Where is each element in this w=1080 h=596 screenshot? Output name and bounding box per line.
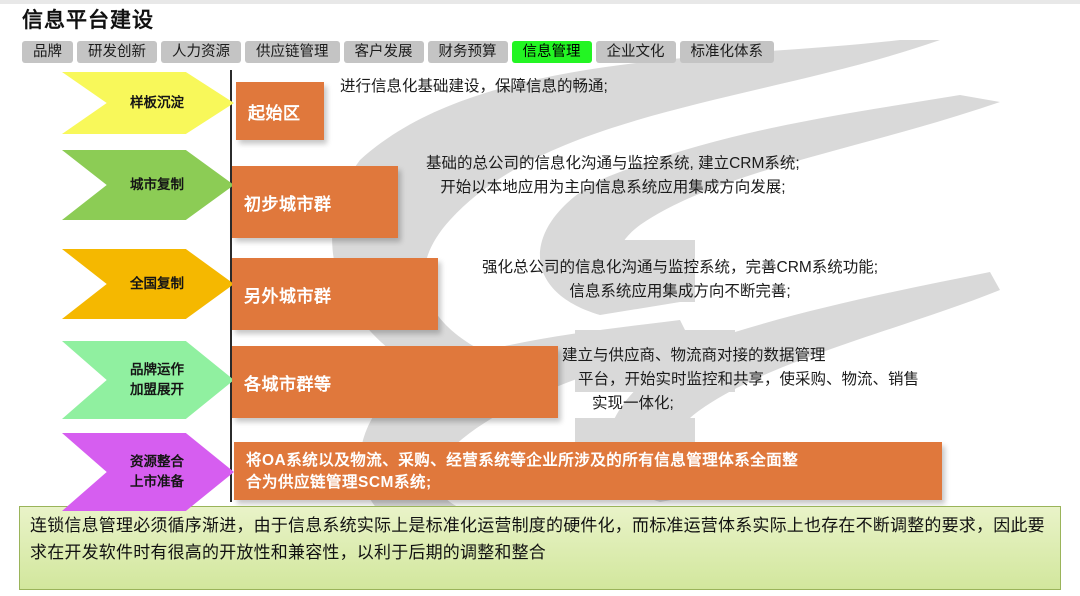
tab-information-management[interactable]: 信息管理	[512, 41, 592, 63]
stage-description-2-line-1: 基础的总公司的信息化沟通与监控系统, 建立CRM系统;	[426, 152, 800, 176]
stage-chevron-1-label: 样板沉淀	[130, 93, 184, 113]
stage-chevron-2: 城市复制	[62, 150, 234, 220]
tab-supply-chain-management[interactable]: 供应链管理	[245, 41, 340, 63]
tab-customer-development[interactable]: 客户发展	[344, 41, 424, 63]
stage-chevron-5: 资源整合 上市准备	[62, 433, 234, 511]
tab-human-resources[interactable]: 人力资源	[161, 41, 241, 63]
stage-box-2-label: 初步城市群	[244, 190, 332, 215]
stage-description-4-line-2: 平台，开始实时监控和共享，使采购、物流、销售	[562, 368, 919, 392]
stage-chevron-2-label: 城市复制	[130, 175, 184, 195]
tab-brand[interactable]: 品牌	[22, 41, 73, 63]
stage-description-4: 建立与供应商、物流商对接的数据管理 平台，开始实时监控和共享，使采购、物流、销售…	[562, 344, 919, 416]
stage-chevron-4-label-line-1: 品牌运作	[130, 360, 184, 380]
category-tab-bar: 品牌 研发创新 人力资源 供应链管理 客户发展 财务预算 信息管理 企业文化 标…	[22, 41, 774, 63]
stage-box-1: 起始区	[236, 82, 324, 140]
stage-description-3-line-1: 强化总公司的信息化沟通与监控系统，完善CRM系统功能;	[482, 256, 878, 280]
stage-box-2: 初步城市群	[232, 166, 398, 238]
stage-chevron-4: 品牌运作 加盟展开	[62, 341, 234, 419]
stage-chevron-1: 样板沉淀	[62, 72, 234, 134]
stage-chevron-5-label-line-1: 资源整合	[130, 452, 184, 472]
stage-box-4-label: 各城市群等	[244, 370, 332, 395]
stage-box-5-label-line-2: 合为供应链管理SCM系统;	[246, 472, 798, 494]
stage-box-4: 各城市群等	[232, 346, 558, 418]
tab-corporate-culture[interactable]: 企业文化	[596, 41, 676, 63]
stage-chevron-4-label-line-2: 加盟展开	[130, 380, 184, 400]
stage-description-4-line-1: 建立与供应商、物流商对接的数据管理	[562, 344, 919, 368]
stage-description-3-line-2: 信息系统应用集成方向不断完善;	[482, 280, 878, 304]
page-title: 信息平台建设	[22, 4, 154, 34]
stage-box-5-label-line-1: 将OA系统以及物流、采购、经营系统等企业所涉及的所有信息管理体系全面整	[246, 450, 798, 472]
stage-box-3: 另外城市群	[232, 258, 438, 330]
stage-description-4-line-3: 实现一体化;	[562, 392, 919, 416]
stage-box-5: 将OA系统以及物流、采购、经营系统等企业所涉及的所有信息管理体系全面整 合为供应…	[234, 442, 942, 500]
tab-standardization-system[interactable]: 标准化体系	[680, 41, 775, 63]
top-strip	[0, 0, 1080, 4]
stage-chevron-3: 全国复制	[62, 249, 234, 319]
stage-box-3-label: 另外城市群	[244, 282, 332, 307]
stage-description-1-line-1: 进行信息化基础建设，保障信息的畅通;	[340, 75, 608, 99]
stage-chevron-3-label: 全国复制	[130, 274, 184, 294]
stage-box-1-label: 起始区	[248, 99, 301, 124]
stage-description-3: 强化总公司的信息化沟通与监控系统，完善CRM系统功能; 信息系统应用集成方向不断…	[482, 256, 878, 304]
stage-description-1: 进行信息化基础建设，保障信息的畅通;	[340, 75, 608, 99]
stage-chevron-5-label-line-2: 上市准备	[130, 472, 184, 492]
stage-description-2: 基础的总公司的信息化沟通与监控系统, 建立CRM系统; 开始以本地应用为主向信息…	[426, 152, 800, 200]
tab-finance-budget[interactable]: 财务预算	[428, 41, 508, 63]
tab-rnd-innovation[interactable]: 研发创新	[77, 41, 157, 63]
stage-description-2-line-2: 开始以本地应用为主向信息系统应用集成方向发展;	[426, 176, 800, 200]
conclusion-box: 连锁信息管理必须循序渐进，由于信息系统实际上是标准化运营制度的硬件化，而标准运营…	[19, 506, 1061, 590]
